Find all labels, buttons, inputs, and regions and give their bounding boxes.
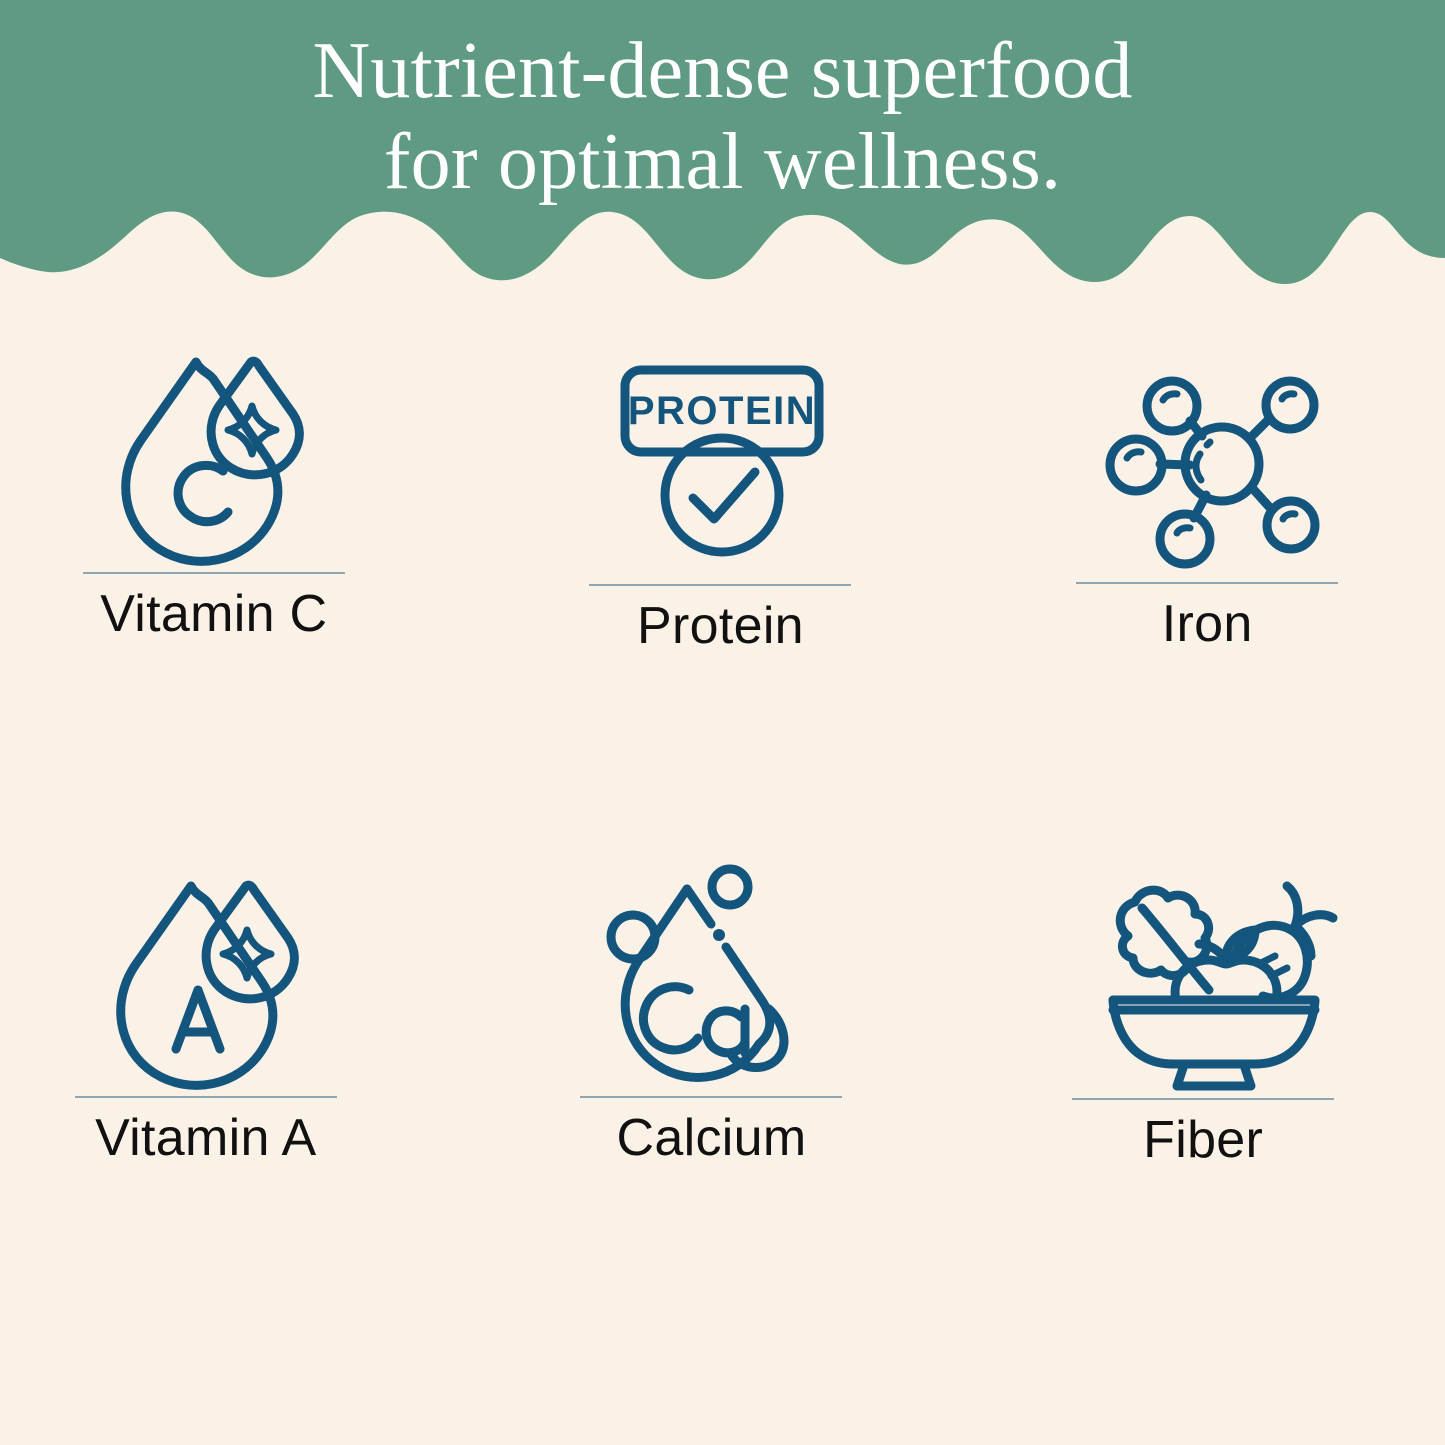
nutrient-card-calcium: Calcium	[482, 850, 964, 1370]
nutrient-label: Protein	[637, 598, 804, 655]
nutrient-card-vitamin-c: Vitamin C	[0, 330, 482, 850]
droplet-vitamin-a-icon	[96, 864, 346, 1094]
nutrient-label: Iron	[1162, 596, 1253, 653]
droplet-vitamin-c-icon	[101, 340, 351, 570]
divider-line	[1076, 582, 1338, 584]
divider-line	[83, 572, 345, 574]
nutrient-card-iron: Iron	[963, 330, 1445, 850]
nutrient-card-protein: PROTEIN Protein	[482, 330, 964, 850]
nutrient-label: Vitamin A	[95, 1110, 316, 1167]
nutrient-grid: Vitamin C PROTEIN Protein	[0, 330, 1445, 1370]
nutrient-card-fiber: Fiber	[963, 850, 1445, 1370]
nutrient-card-vitamin-a: Vitamin A	[0, 850, 482, 1370]
divider-line	[580, 1096, 842, 1098]
nutrient-label: Vitamin C	[100, 586, 327, 643]
protein-banner-text: PROTEIN	[628, 389, 816, 433]
divider-line	[75, 1096, 337, 1098]
nutrient-label: Fiber	[1143, 1112, 1263, 1169]
header-banner: Nutrient-dense superfood for optimal wel…	[0, 0, 1445, 300]
molecule-icon	[1094, 350, 1344, 580]
protein-check-badge-icon: PROTEIN	[597, 352, 847, 582]
divider-line	[1072, 1098, 1334, 1100]
droplet-calcium-icon	[593, 864, 843, 1094]
page-title: Nutrient-dense superfood for optimal wel…	[0, 26, 1445, 208]
nutrient-label: Calcium	[617, 1110, 807, 1167]
vegetable-bowl-icon	[1089, 868, 1339, 1098]
divider-line	[589, 584, 851, 586]
